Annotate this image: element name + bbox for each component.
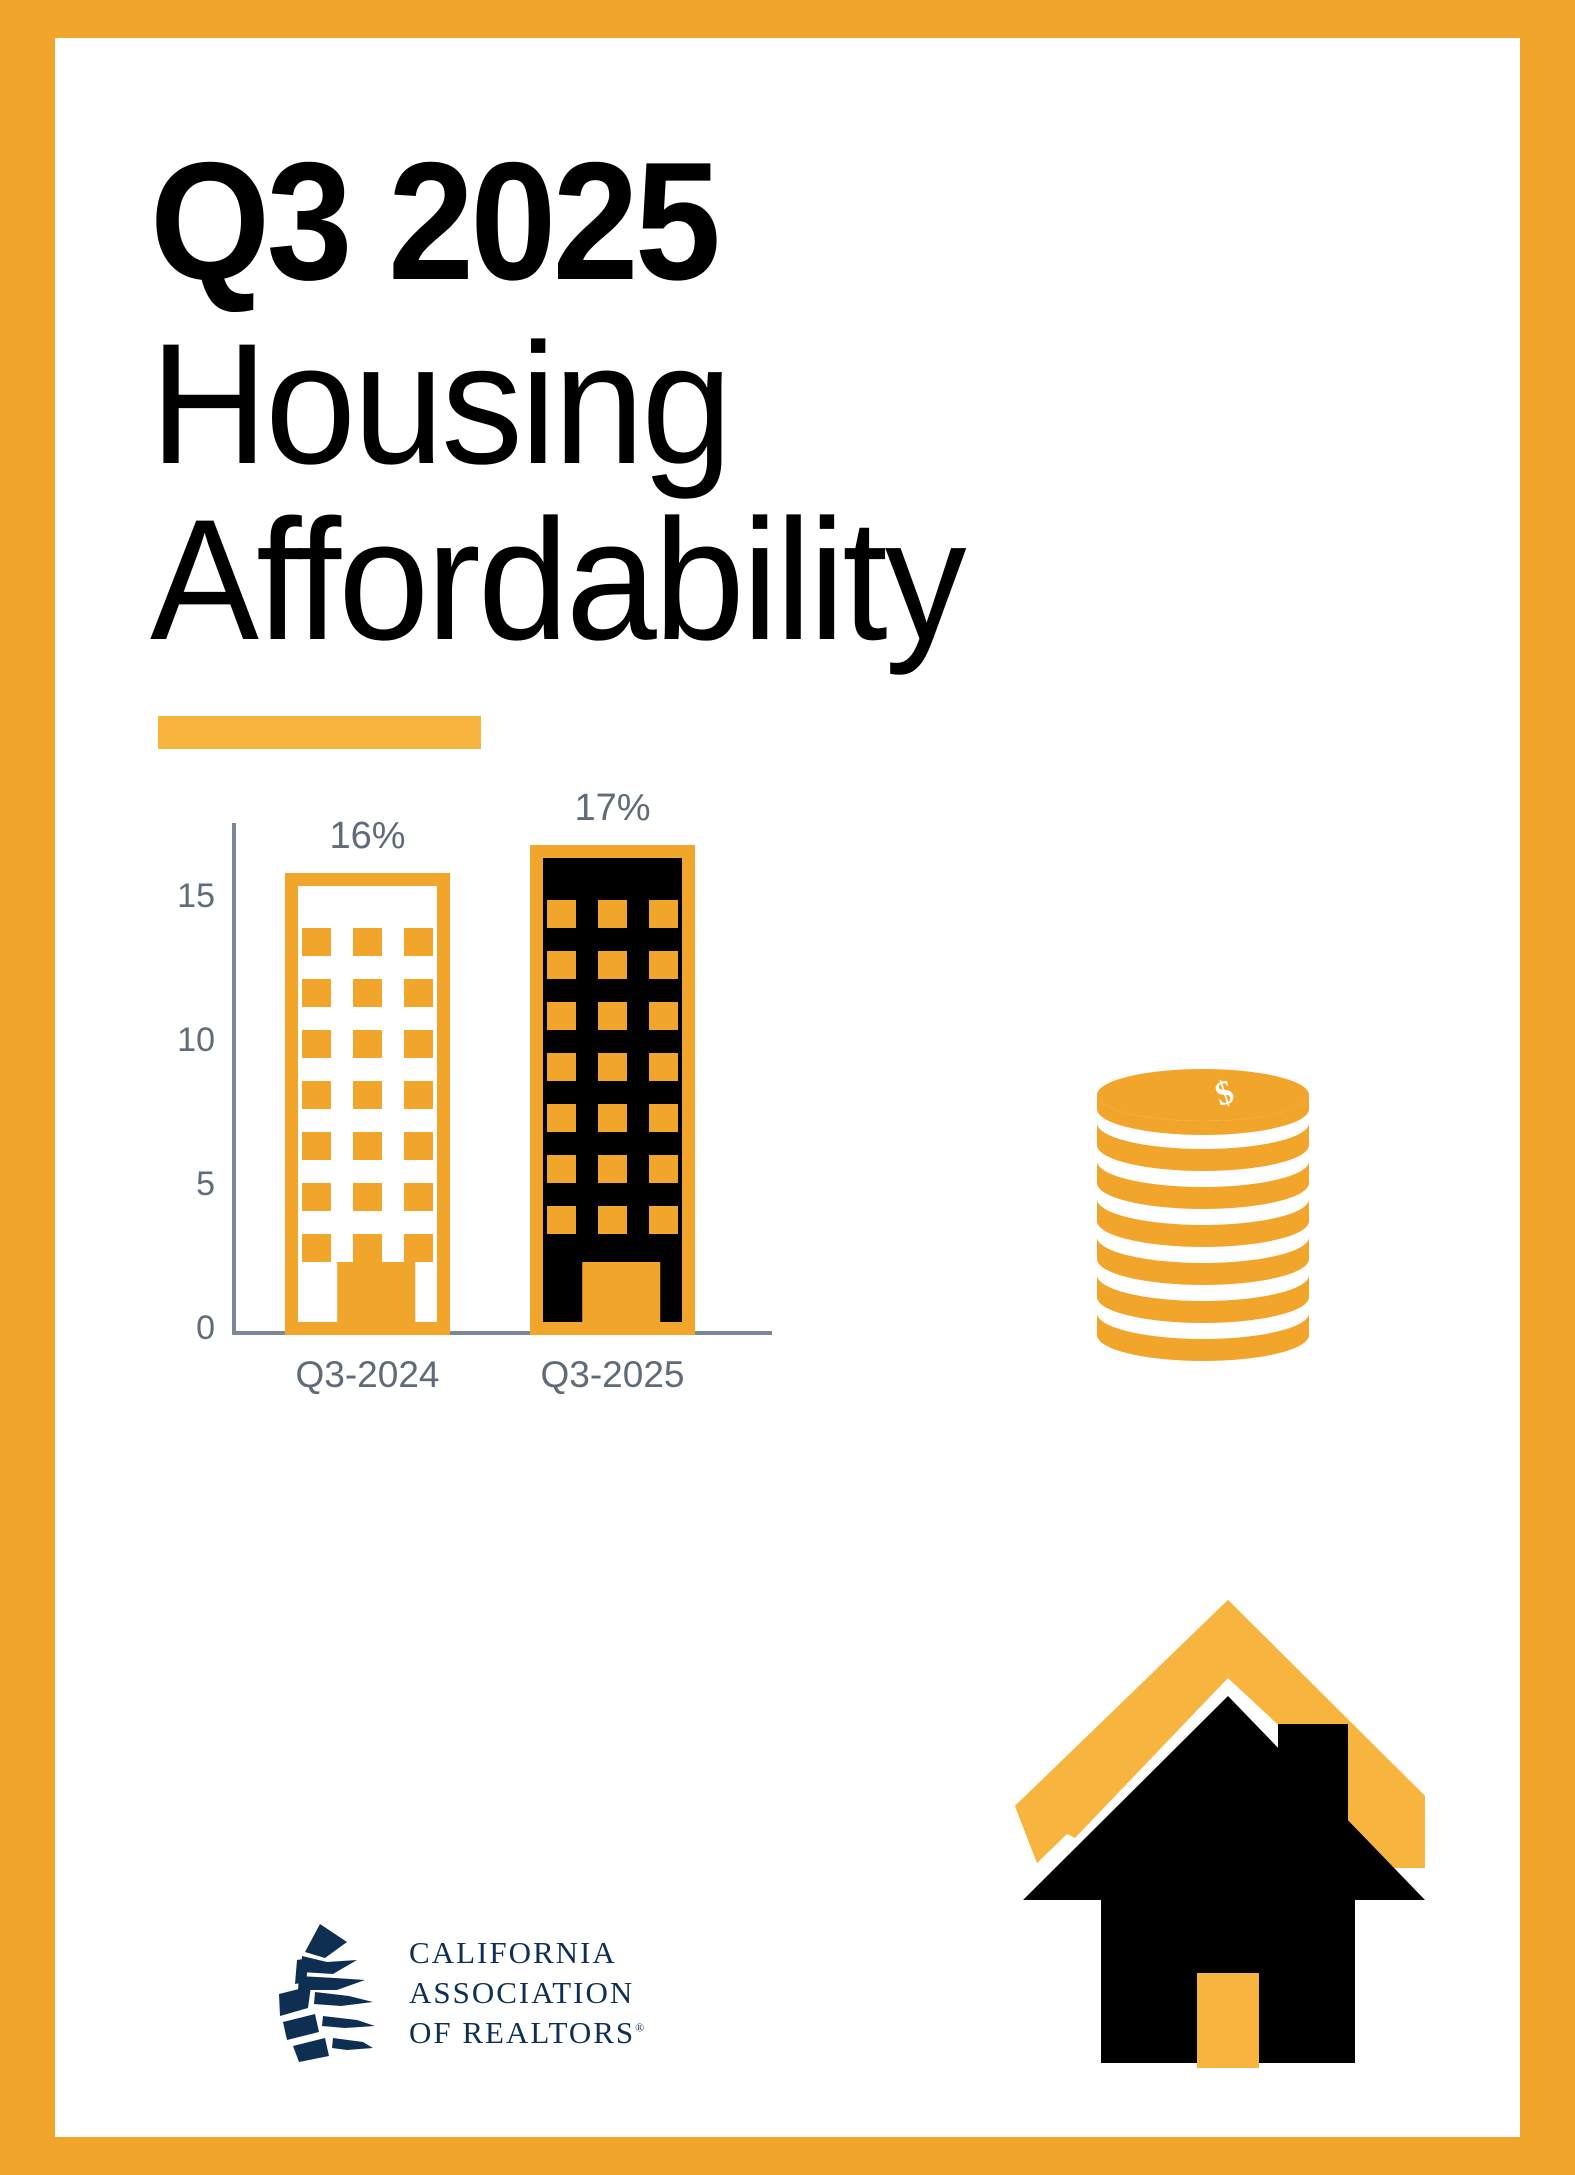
window-cell bbox=[547, 900, 576, 928]
car-logo-text: CALIFORNIA ASSOCIATION OF REALTORS® bbox=[409, 1933, 644, 2054]
window-cell bbox=[649, 1155, 678, 1183]
window-row bbox=[302, 979, 433, 1007]
window-cell bbox=[649, 1053, 678, 1081]
window-row bbox=[547, 1155, 678, 1183]
window-cell bbox=[353, 1081, 382, 1109]
window-cell bbox=[404, 1081, 433, 1109]
window-cell bbox=[649, 1002, 678, 1030]
window-cell bbox=[598, 1053, 627, 1081]
window-cell bbox=[598, 1155, 627, 1183]
window-cell bbox=[353, 1132, 382, 1160]
title-underline-rule bbox=[158, 716, 481, 749]
window-cell bbox=[353, 1183, 382, 1211]
house-icon bbox=[975, 1528, 1425, 2068]
window-row bbox=[302, 1030, 433, 1058]
building-door bbox=[583, 1262, 661, 1322]
y-axis-line bbox=[232, 823, 236, 1335]
window-cell bbox=[598, 1002, 627, 1030]
window-cell bbox=[547, 1206, 576, 1234]
window-cell bbox=[649, 900, 678, 928]
window-cell bbox=[353, 928, 382, 956]
bar-value-label-2024: 16% bbox=[329, 815, 405, 858]
window-cell bbox=[302, 1234, 331, 1262]
affordability-bar-chart: 0 5 10 15 16% bbox=[115, 798, 755, 1418]
window-cell bbox=[302, 1081, 331, 1109]
window-cell bbox=[353, 979, 382, 1007]
registered-trademark-mark: ® bbox=[635, 2021, 644, 2035]
window-cell bbox=[404, 928, 433, 956]
logo-line-association: ASSOCIATION bbox=[409, 1973, 644, 2013]
title-line-quarter: Q3 2025 bbox=[150, 143, 1300, 299]
window-cell bbox=[302, 1030, 331, 1058]
building-windows-2025 bbox=[543, 886, 682, 1322]
window-row bbox=[302, 928, 433, 956]
window-row bbox=[302, 1234, 433, 1262]
window-cell bbox=[547, 1053, 576, 1081]
car-logo: CALIFORNIA ASSOCIATION OF REALTORS® bbox=[275, 1918, 695, 2068]
bar-q3-2024[interactable]: 16% bbox=[285, 873, 450, 1335]
window-row bbox=[547, 951, 678, 979]
window-row bbox=[547, 1002, 678, 1030]
bar-value-label-2025: 17% bbox=[574, 787, 650, 830]
logo-line-california: CALIFORNIA bbox=[409, 1933, 644, 1973]
y-tick-label-15: 15 bbox=[115, 879, 215, 913]
window-cell bbox=[547, 1155, 576, 1183]
page-title: Q3 2025 Housing Affordability bbox=[150, 143, 1400, 668]
window-cell bbox=[598, 951, 627, 979]
poster-canvas: Q3 2025 Housing Affordability 0 5 10 15 … bbox=[55, 38, 1520, 2137]
window-cell bbox=[404, 1183, 433, 1211]
window-row bbox=[547, 1104, 678, 1132]
building-solid-icon bbox=[530, 845, 695, 1335]
window-cell bbox=[598, 900, 627, 928]
window-cell bbox=[598, 1206, 627, 1234]
title-line-affordability: Affordability bbox=[150, 493, 1338, 668]
window-cell bbox=[649, 951, 678, 979]
y-tick-label-10: 10 bbox=[115, 1023, 215, 1057]
window-cell bbox=[547, 951, 576, 979]
window-row bbox=[302, 1081, 433, 1109]
window-cell bbox=[649, 1104, 678, 1132]
window-row bbox=[302, 1132, 433, 1160]
window-row bbox=[547, 1053, 678, 1081]
window-cell bbox=[302, 1183, 331, 1211]
coin-stack-icon: $ bbox=[1093, 1053, 1313, 1373]
window-row bbox=[302, 1183, 433, 1211]
x-tick-label-q3-2025: Q3-2025 bbox=[530, 1354, 695, 1396]
window-cell bbox=[598, 1104, 627, 1132]
window-cell bbox=[353, 1030, 382, 1058]
window-cell bbox=[404, 1030, 433, 1058]
window-cell bbox=[404, 979, 433, 1007]
car-fan-logo bbox=[275, 1922, 387, 2064]
logo-line-of-realtors: OF REALTORS® bbox=[409, 2013, 644, 2053]
window-cell bbox=[302, 928, 331, 956]
y-tick-label-5: 5 bbox=[115, 1167, 215, 1201]
window-row bbox=[547, 900, 678, 928]
window-cell bbox=[404, 1234, 433, 1262]
window-cell bbox=[302, 979, 331, 1007]
window-cell bbox=[404, 1132, 433, 1160]
window-row bbox=[547, 1206, 678, 1234]
window-cell bbox=[649, 1206, 678, 1234]
bar-q3-2025[interactable]: 17% bbox=[530, 845, 695, 1335]
building-outline-icon bbox=[285, 873, 450, 1335]
x-tick-label-q3-2024: Q3-2024 bbox=[285, 1354, 450, 1396]
building-door bbox=[338, 1262, 416, 1322]
window-cell bbox=[547, 1104, 576, 1132]
y-tick-label-0: 0 bbox=[115, 1311, 215, 1345]
window-cell bbox=[353, 1234, 382, 1262]
building-windows-2024 bbox=[298, 914, 437, 1322]
window-cell bbox=[302, 1132, 331, 1160]
logo-line-of-realtors-text: OF REALTORS bbox=[409, 2015, 635, 2050]
window-cell bbox=[547, 1002, 576, 1030]
title-line-housing: Housing bbox=[150, 317, 1338, 492]
poster-orange-frame: Q3 2025 Housing Affordability 0 5 10 15 … bbox=[0, 0, 1575, 2175]
